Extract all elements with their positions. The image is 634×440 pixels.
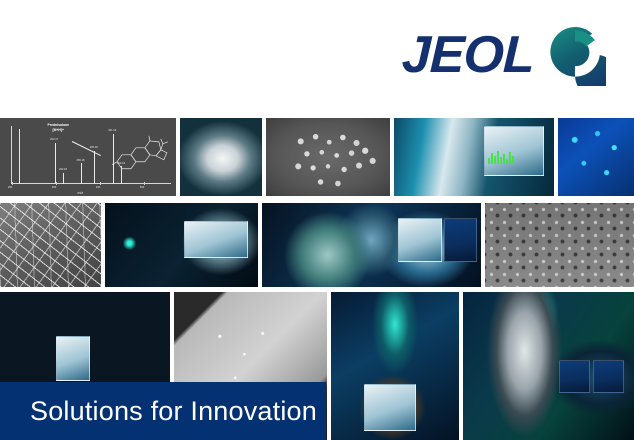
spectrum-x-tick-label: 400 (96, 186, 100, 189)
steroid-structure-icon (109, 130, 169, 185)
elemental-map-display (558, 118, 634, 196)
spectrum-x-axis-title: m/z (77, 191, 83, 195)
spectrum-peak (19, 129, 20, 184)
instrument-display (184, 221, 248, 258)
spectrum-peak (81, 163, 82, 183)
mosaic-row-2 (0, 203, 634, 287)
spectrum-peak (94, 151, 95, 184)
transmission-electron-microscope (463, 292, 634, 440)
spectrum-adduct-label: [M+H]+ (53, 128, 65, 132)
spectrum-peak (63, 173, 64, 184)
control-monitor (559, 360, 590, 393)
spectrum-peak-label: 265.18 (77, 159, 85, 162)
jeol-wordmark: JEOL (401, 29, 535, 81)
chamber-view (364, 384, 415, 431)
researchers-at-microscope (262, 203, 481, 287)
spectrum-bars (488, 150, 514, 164)
analysis-monitor (484, 126, 545, 176)
benchtop-analyzer-instrument (180, 118, 262, 196)
mass-spectrum-prednisolone: 203.17 232.18 265.18 283.18 321.19 362.1… (0, 118, 176, 196)
spectrum-peak-label: 283.18 (90, 146, 98, 149)
spectrum-x-tick-label: 500 (140, 186, 144, 189)
spectrum-y-axis (11, 126, 12, 184)
spectrum-x-tick (100, 182, 101, 185)
spectrum-peak (55, 143, 56, 184)
header-bar: JEOL (0, 0, 634, 118)
atomic-resolution-lattice (485, 203, 634, 287)
control-monitor (593, 360, 624, 393)
sem-nanowires (0, 203, 101, 287)
tagline-text: Solutions for Innovation (0, 396, 317, 427)
spectrum-annotation: Prednisolone [M+H]+ (48, 123, 69, 132)
sem-instrument-column (331, 292, 459, 440)
spectrum-peak-label: 232.18 (59, 168, 67, 171)
jeol-circular-swirl-mark (544, 24, 606, 86)
spectrum-x-tick (12, 182, 13, 185)
jeol-logo[interactable]: JEOL (402, 24, 606, 86)
slide-root: JEOL (0, 0, 634, 440)
sample-preparation-lab (105, 203, 258, 287)
spectrum-x-tick-label: 300 (52, 186, 56, 189)
right-monitor (444, 218, 477, 262)
spectrum-x-tick-label: 200 (8, 186, 12, 189)
spectrum-x-tick (56, 182, 57, 185)
mosaic-row-1: 203.17 232.18 265.18 283.18 321.19 362.1… (0, 118, 634, 196)
tagline-banner: Solutions for Innovation (0, 382, 326, 440)
spectrum-peak-label: 203.17 (50, 138, 58, 141)
operator-monitor (56, 336, 90, 380)
left-monitor (398, 218, 442, 262)
tem-virus-particles (266, 118, 390, 196)
electron-microscope-workstation (394, 118, 554, 196)
